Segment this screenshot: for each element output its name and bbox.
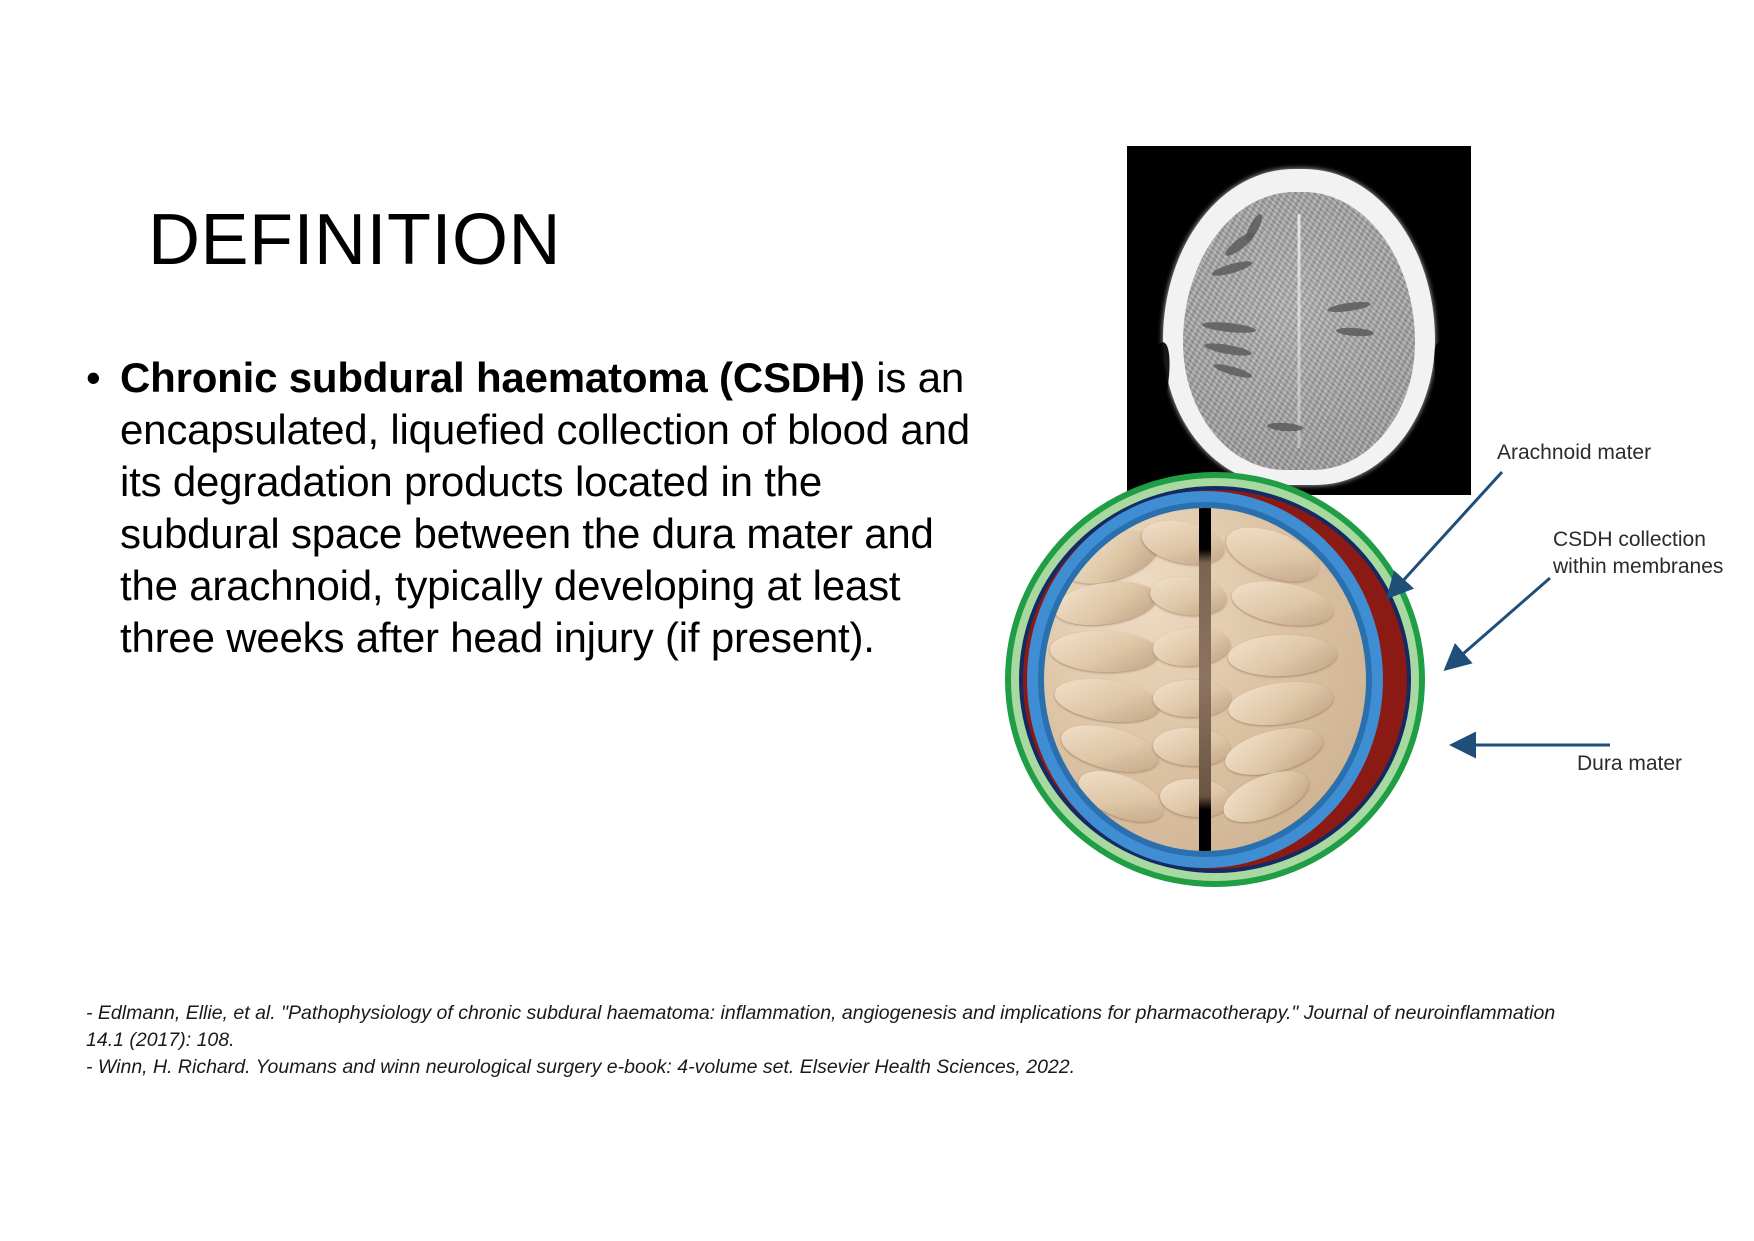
ct-sulcus xyxy=(1203,341,1252,358)
ct-sulcus xyxy=(1326,300,1371,314)
bullet-marker-icon: • xyxy=(86,352,120,404)
label-dura-mater: Dura mater xyxy=(1577,750,1682,777)
ct-sulcus xyxy=(1201,320,1256,335)
longitudinal-fissure xyxy=(1199,508,1211,851)
gyrus xyxy=(1225,676,1336,732)
gyrus xyxy=(1153,680,1230,718)
presentation-slide: DEFINITION • Chronic subdural haematoma … xyxy=(0,0,1754,1241)
ct-falx-cerebri xyxy=(1298,214,1301,448)
gyrus xyxy=(1228,575,1337,633)
gyrus xyxy=(1051,672,1162,728)
brain-hemispheres xyxy=(1044,508,1366,851)
label-arachnoid-mater: Arachnoid mater xyxy=(1497,439,1651,466)
citation-item: - Edlmann, Ellie, et al. "Pathophysiolog… xyxy=(86,1000,1566,1054)
gyrus xyxy=(1159,777,1232,820)
brain-membranes-diagram xyxy=(1005,472,1425,887)
bullet-item: • Chronic subdural haematoma (CSDH) is a… xyxy=(86,352,976,664)
ct-scalp-shadow-right xyxy=(1427,340,1471,452)
ct-sulcus xyxy=(1210,259,1253,279)
ct-sulcus xyxy=(1336,327,1374,338)
gyrus xyxy=(1227,633,1338,678)
page-title: DEFINITION xyxy=(148,204,561,276)
citation-item: - Winn, H. Richard. Youmans and winn neu… xyxy=(86,1054,1566,1081)
ct-sulcus xyxy=(1243,212,1265,243)
body-content: • Chronic subdural haematoma (CSDH) is a… xyxy=(86,352,976,664)
gyrus xyxy=(1057,716,1164,780)
gyrus xyxy=(1137,513,1227,571)
label-csdh-collection: CSDH collection within membranes xyxy=(1553,526,1723,580)
gyrus xyxy=(1152,625,1232,668)
ct-brain-parenchyma xyxy=(1183,192,1415,470)
bullet-lead-term: Chronic subdural haematoma (CSDH) xyxy=(120,354,865,401)
gyrus xyxy=(1148,573,1229,619)
gyrus xyxy=(1153,726,1232,768)
ct-sulcus xyxy=(1213,362,1254,381)
head-ct-scan-image xyxy=(1127,146,1471,495)
gyrus xyxy=(1050,630,1161,675)
citation-block: - Edlmann, Ellie, et al. "Pathophysiolog… xyxy=(86,1000,1566,1081)
bullet-paragraph: Chronic subdural haematoma (CSDH) is an … xyxy=(120,352,976,664)
